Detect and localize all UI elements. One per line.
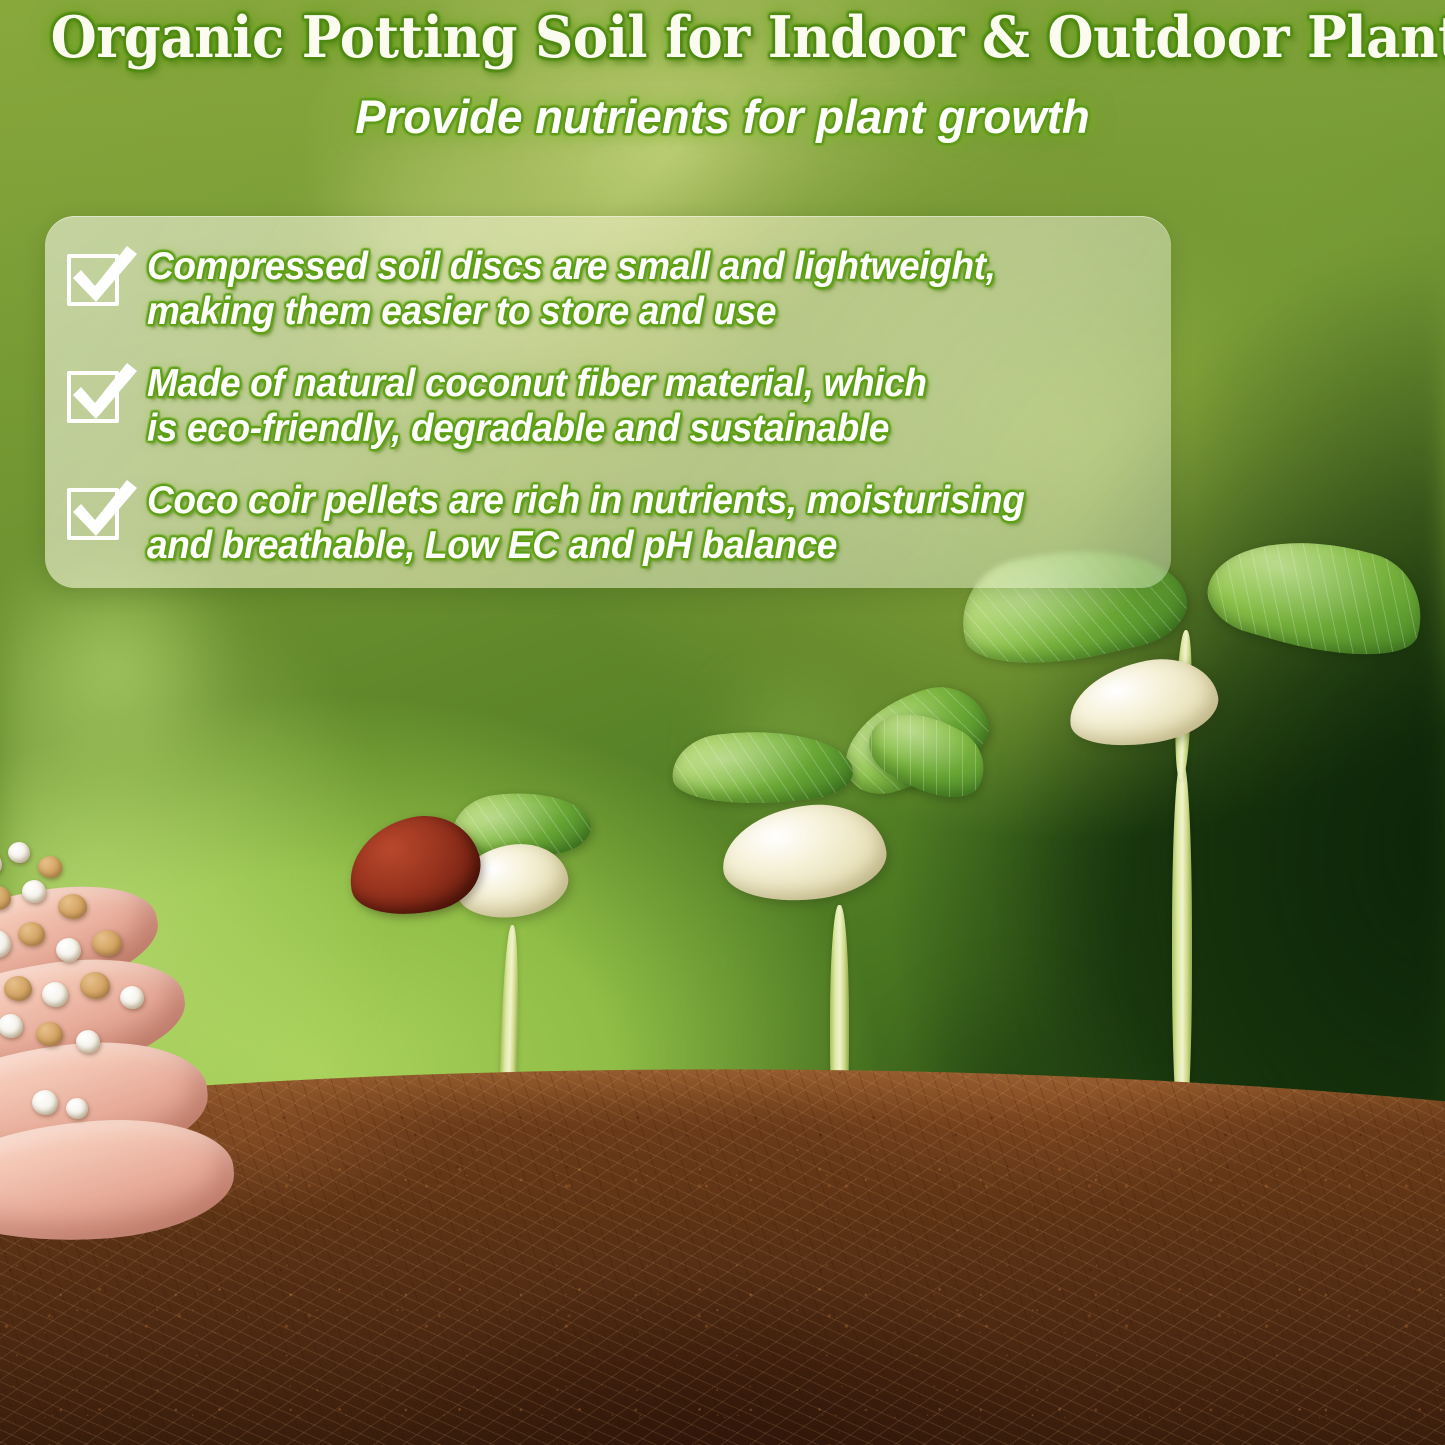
feature-text-line1: Compressed soil discs are small and ligh… xyxy=(147,245,996,288)
finger-2 xyxy=(0,1111,238,1250)
feature-list: Compressed soil discs are small and ligh… xyxy=(45,216,1171,588)
checkbox-checked-icon xyxy=(67,365,125,427)
page-title: Organic Potting Soil for Indoor & Outdoo… xyxy=(51,8,1395,68)
product-infographic: Compressed soil discs are small and ligh… xyxy=(0,0,1445,1445)
hand-holding-fertilizer-pellets xyxy=(0,790,350,1310)
feature-text: Coco coir pellets are rich in nutrients,… xyxy=(147,478,1024,568)
feature-panel: Compressed soil discs are small and ligh… xyxy=(45,216,1171,588)
feature-text-line2: and breathable, Low EC and pH balance xyxy=(147,524,837,567)
feature-text: Made of natural coconut fiber material, … xyxy=(147,361,927,451)
feature-text-line1: Coco coir pellets are rich in nutrients,… xyxy=(147,479,1024,522)
feature-item: Compressed soil discs are small and ligh… xyxy=(67,244,1147,334)
feature-item: Coco coir pellets are rich in nutrients,… xyxy=(67,478,1147,568)
header: Organic Potting Soil for Indoor & Outdoo… xyxy=(0,8,1445,141)
checkbox-checked-icon xyxy=(67,248,125,310)
feature-item: Made of natural coconut fiber material, … xyxy=(67,361,1147,451)
page-subtitle: Provide nutrients for plant growth xyxy=(22,92,1424,141)
feature-text-line1: Made of natural coconut fiber material, … xyxy=(147,362,927,405)
checkbox-checked-icon xyxy=(67,482,125,544)
feature-text-line2: making them easier to store and use xyxy=(147,290,776,333)
feature-text: Compressed soil discs are small and ligh… xyxy=(147,244,996,334)
feature-text-line2: is eco-friendly, degradable and sustaina… xyxy=(147,407,889,450)
